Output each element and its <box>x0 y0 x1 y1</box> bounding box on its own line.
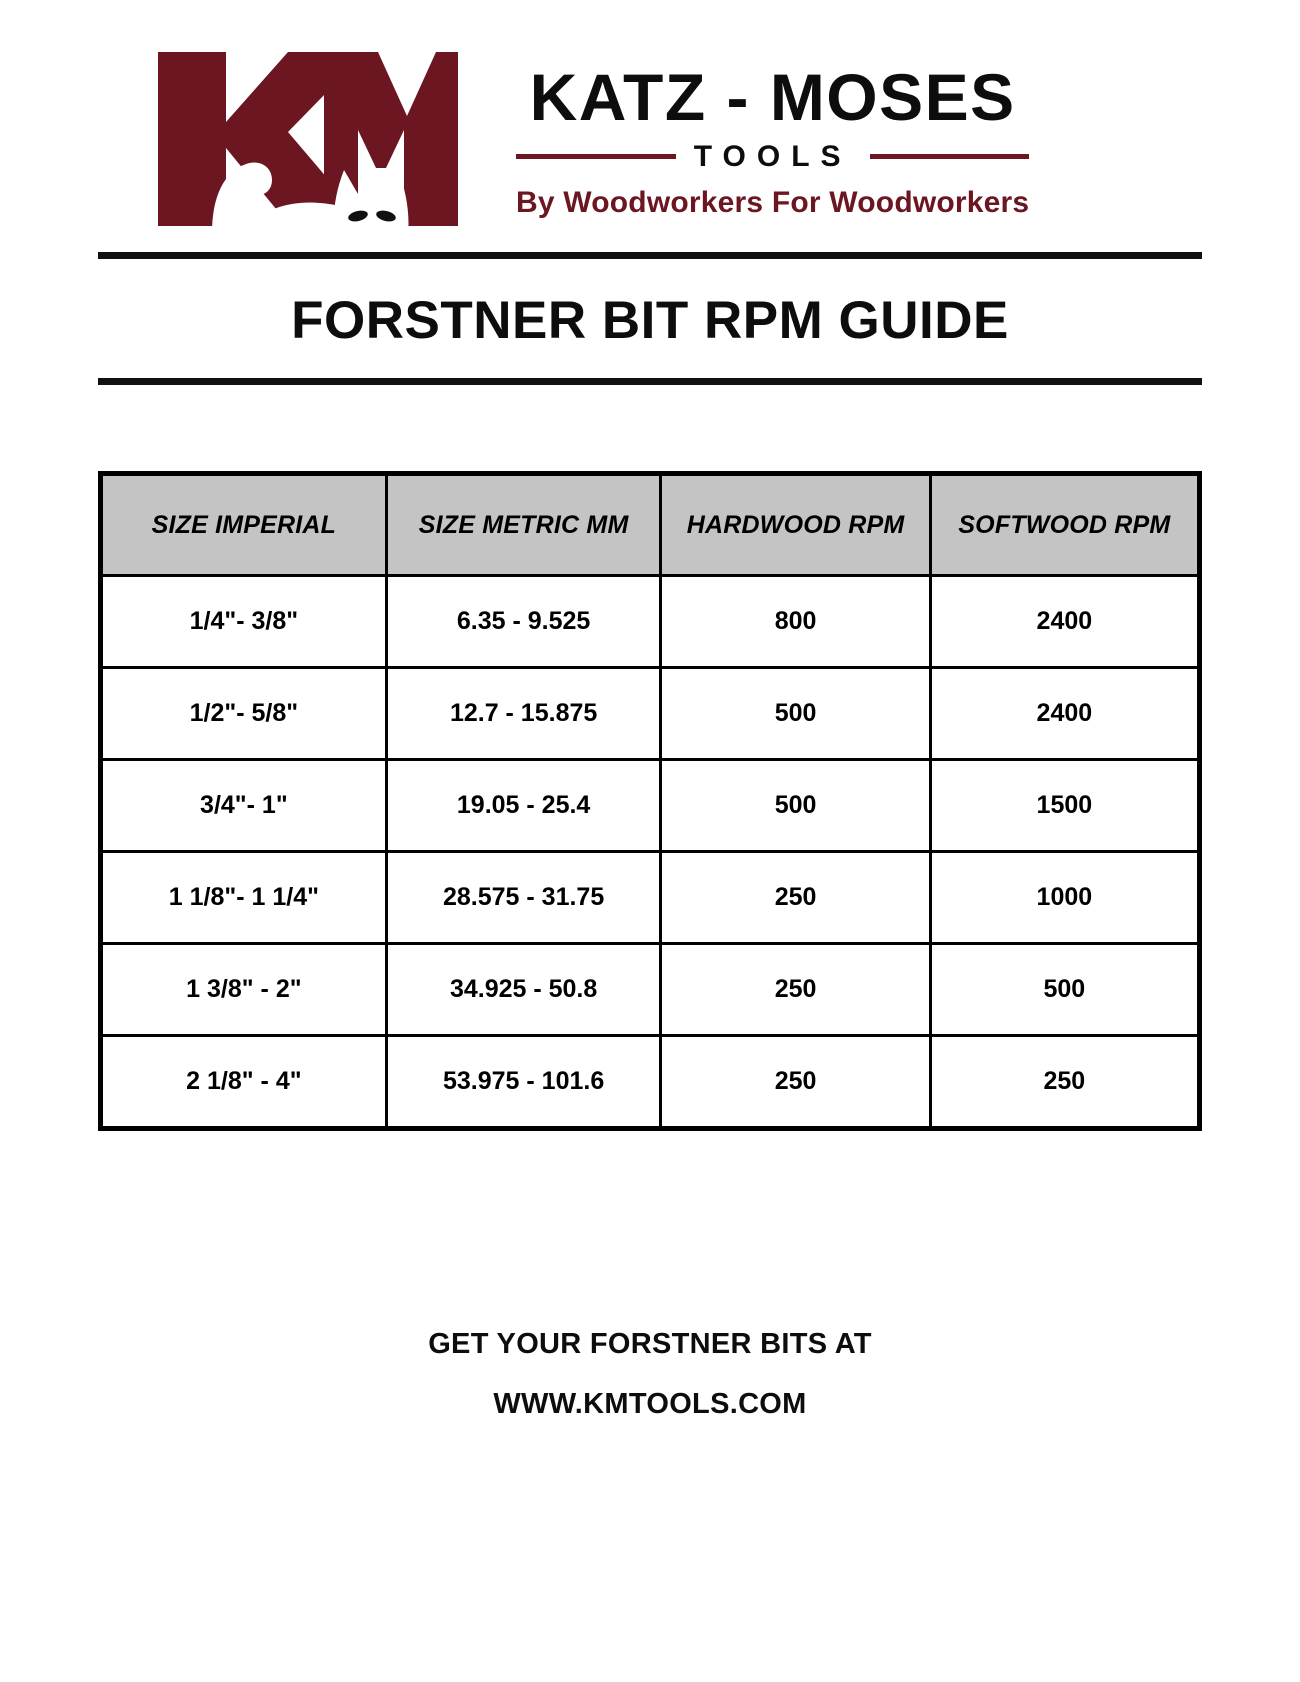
cell-size-metric: 53.975 - 101.6 <box>386 1036 661 1129</box>
col-header-size-metric: SIZE METRIC MM <box>386 474 661 576</box>
cell-hardwood-rpm: 250 <box>661 1036 930 1129</box>
brand-subtitle: TOOLS <box>690 140 856 174</box>
cell-size-metric: 19.05 - 25.4 <box>386 760 661 852</box>
cell-softwood-rpm: 1000 <box>930 852 1199 944</box>
cell-hardwood-rpm: 800 <box>661 576 930 668</box>
table-row: 3/4"- 1" 19.05 - 25.4 500 1500 <box>101 760 1200 852</box>
rpm-table-wrap: SIZE IMPERIAL SIZE METRIC MM HARDWOOD RP… <box>98 471 1202 1131</box>
cell-size-metric: 28.575 - 31.75 <box>386 852 661 944</box>
footer: GET YOUR FORSTNER BITS AT WWW.KMTOOLS.CO… <box>0 1330 1300 1419</box>
cell-size-metric: 34.925 - 50.8 <box>386 944 661 1036</box>
table-header: SIZE IMPERIAL SIZE METRIC MM HARDWOOD RP… <box>101 474 1200 576</box>
brand-wordmark: KATZ - MOSES TOOLS By Woodworkers For Wo… <box>516 58 1029 219</box>
col-header-hardwood-rpm: HARDWOOD RPM <box>661 474 930 576</box>
cell-hardwood-rpm: 250 <box>661 944 930 1036</box>
table-row: 1/2"- 5/8" 12.7 - 15.875 500 2400 <box>101 668 1200 760</box>
brand-header: KATZ - MOSES TOOLS By Woodworkers For Wo… <box>0 0 1300 200</box>
col-header-softwood-rpm: SOFTWOOD RPM <box>930 474 1199 576</box>
cell-size-metric: 6.35 - 9.525 <box>386 576 661 668</box>
brand-tools-row: TOOLS <box>516 140 1029 174</box>
cell-size-metric: 12.7 - 15.875 <box>386 668 661 760</box>
cell-hardwood-rpm: 250 <box>661 852 930 944</box>
table-body: 1/4"- 3/8" 6.35 - 9.525 800 2400 1/2"- 5… <box>101 576 1200 1129</box>
right-rule <box>870 154 1030 159</box>
document-page: KATZ - MOSES TOOLS By Woodworkers For Wo… <box>0 0 1300 1682</box>
cell-softwood-rpm: 2400 <box>930 668 1199 760</box>
cell-hardwood-rpm: 500 <box>661 760 930 852</box>
brand-tagline: By Woodworkers For Woodworkers <box>516 186 1029 220</box>
brand-name: KATZ - MOSES <box>530 64 1016 131</box>
cell-softwood-rpm: 250 <box>930 1036 1199 1129</box>
table-header-row: SIZE IMPERIAL SIZE METRIC MM HARDWOOD RP… <box>101 474 1200 576</box>
km-logo-mark <box>148 44 478 234</box>
cell-size-imperial: 1 1/8"- 1 1/4" <box>101 852 387 944</box>
cell-softwood-rpm: 1500 <box>930 760 1199 852</box>
cell-size-imperial: 3/4"- 1" <box>101 760 387 852</box>
left-rule <box>516 154 676 159</box>
rpm-table: SIZE IMPERIAL SIZE METRIC MM HARDWOOD RP… <box>98 471 1202 1131</box>
table-row: 2 1/8" - 4" 53.975 - 101.6 250 250 <box>101 1036 1200 1129</box>
footer-cta: GET YOUR FORSTNER BITS AT <box>0 1330 1300 1359</box>
cell-size-imperial: 2 1/8" - 4" <box>101 1036 387 1129</box>
cell-size-imperial: 1/4"- 3/8" <box>101 576 387 668</box>
title-block: FORSTNER BIT RPM GUIDE <box>98 252 1202 385</box>
cell-size-imperial: 1 3/8" - 2" <box>101 944 387 1036</box>
table-row: 1/4"- 3/8" 6.35 - 9.525 800 2400 <box>101 576 1200 668</box>
page-title: FORSTNER BIT RPM GUIDE <box>98 259 1202 378</box>
table-row: 1 3/8" - 2" 34.925 - 50.8 250 500 <box>101 944 1200 1036</box>
cell-softwood-rpm: 2400 <box>930 576 1199 668</box>
footer-website: WWW.KMTOOLS.COM <box>0 1390 1300 1419</box>
title-rule-bottom <box>98 378 1202 385</box>
cell-size-imperial: 1/2"- 5/8" <box>101 668 387 760</box>
cell-softwood-rpm: 500 <box>930 944 1199 1036</box>
col-header-size-imperial: SIZE IMPERIAL <box>101 474 387 576</box>
cell-hardwood-rpm: 500 <box>661 668 930 760</box>
table-row: 1 1/8"- 1 1/4" 28.575 - 31.75 250 1000 <box>101 852 1200 944</box>
title-rule-top <box>98 252 1202 259</box>
